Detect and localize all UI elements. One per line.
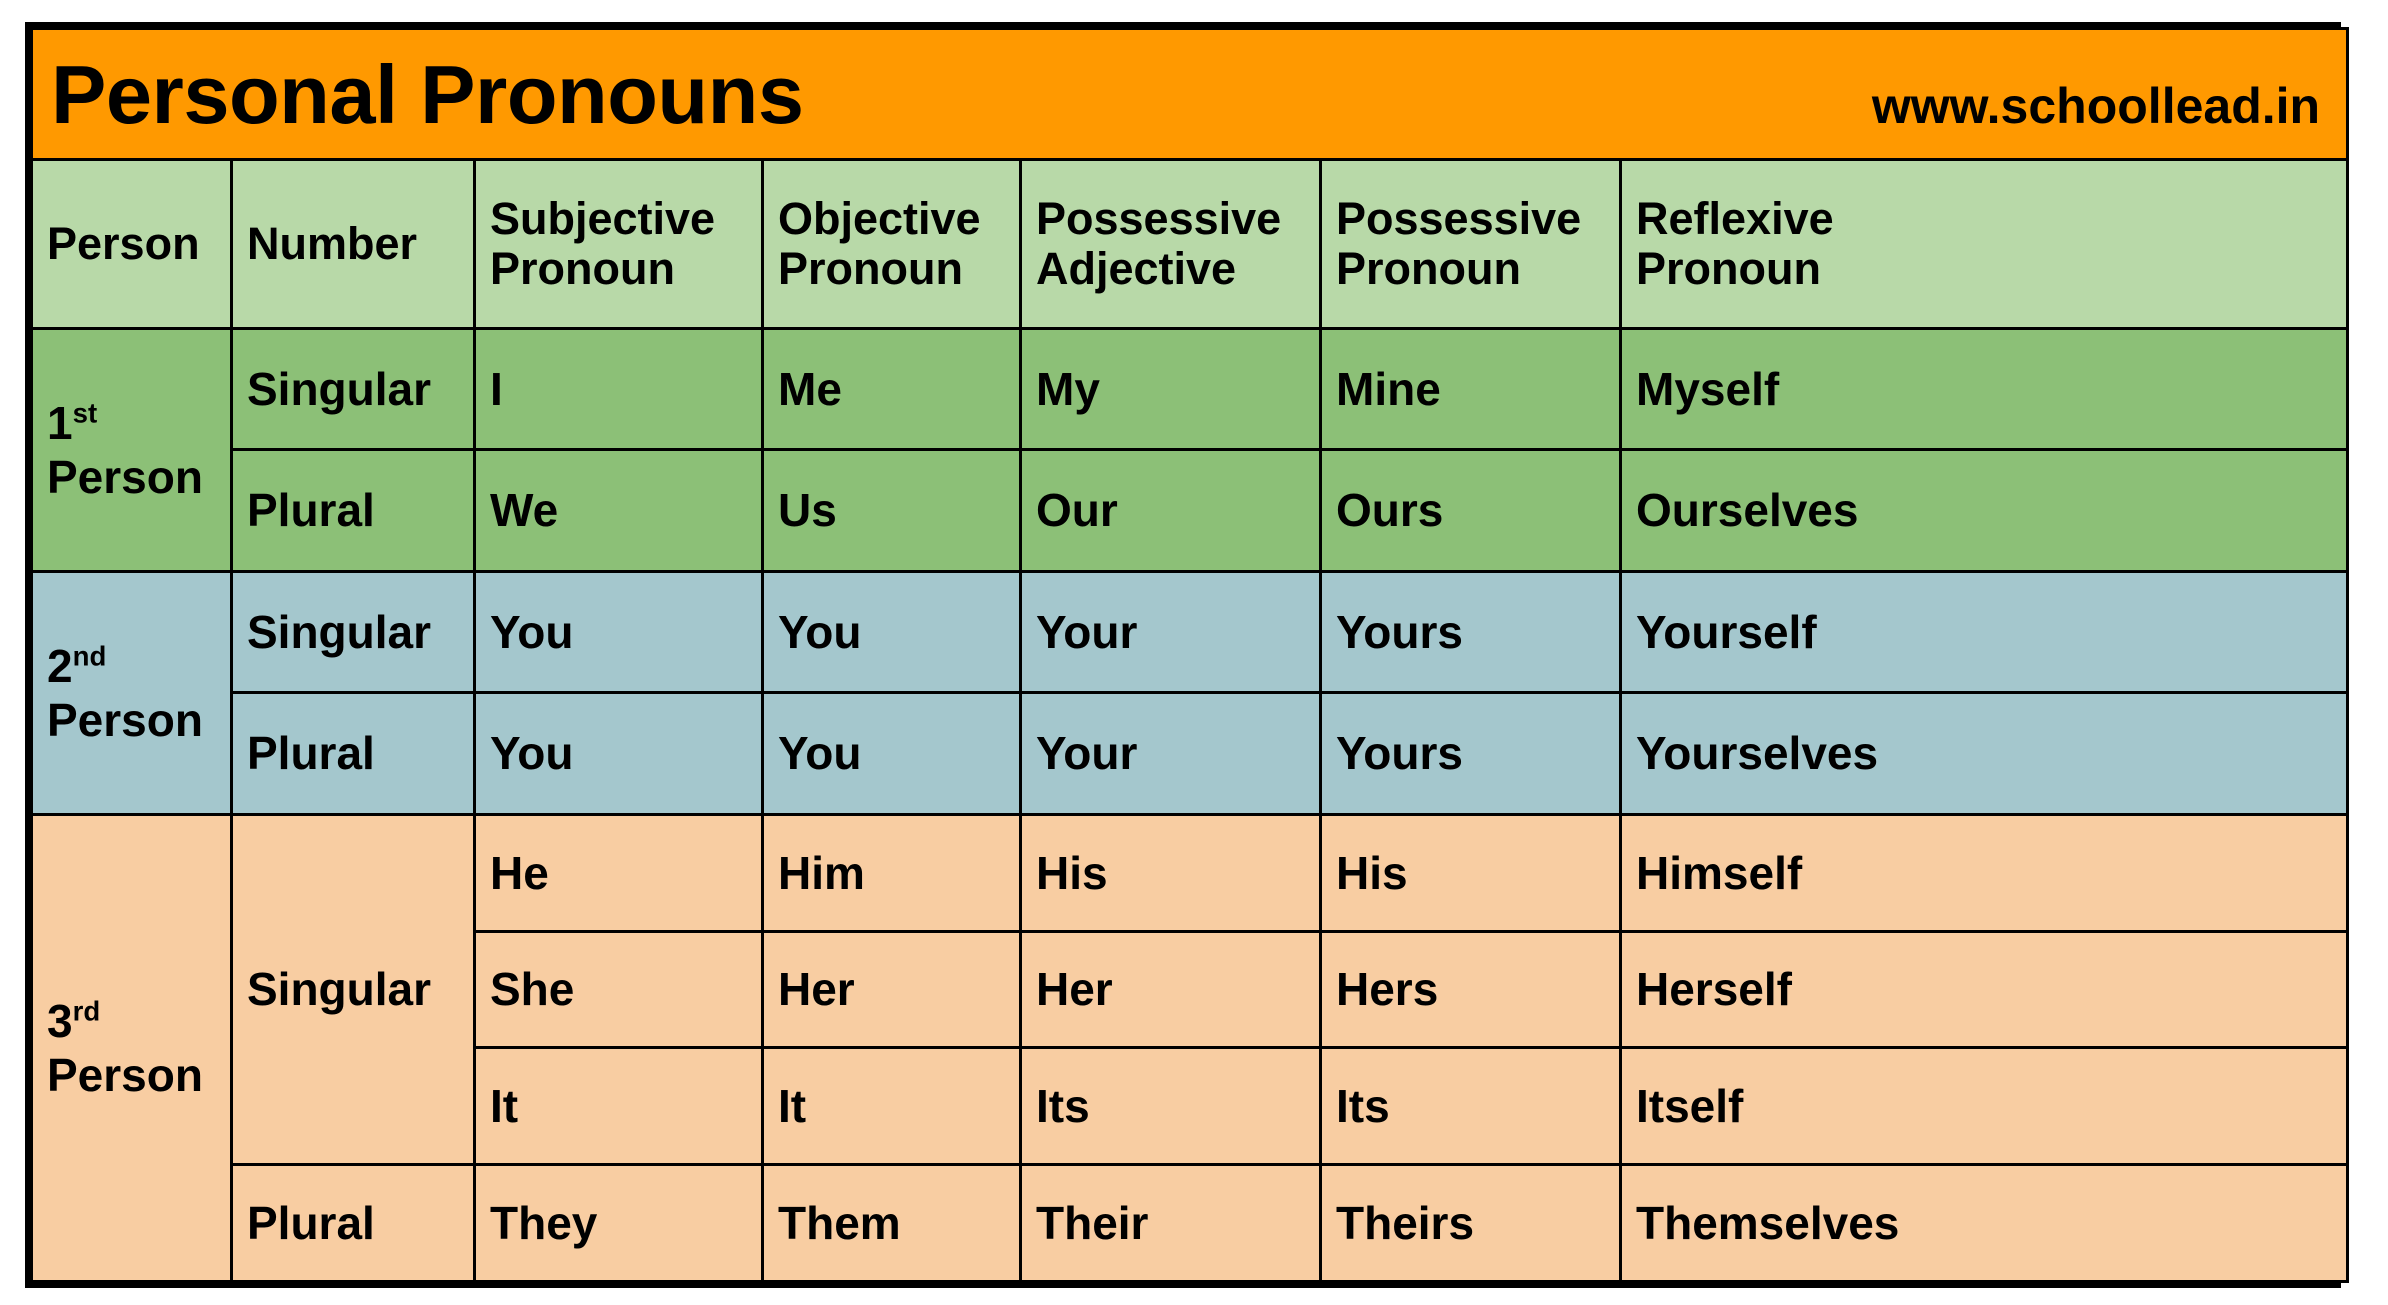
cell-possessive-pronoun: Theirs xyxy=(1321,1165,1621,1282)
subjective-pronoun-value: They xyxy=(490,1198,747,1249)
column-header-subjective-line2: Pronoun xyxy=(490,244,747,294)
cell-reflexive-pronoun: Themselves xyxy=(1621,1165,2348,1282)
column-header-reflexive-line2: Pronoun xyxy=(1636,244,2332,294)
number-label: Plural xyxy=(247,485,459,536)
cell-possessive-pronoun: Hers xyxy=(1321,931,1621,1048)
objective-pronoun-value: It xyxy=(778,1081,1005,1132)
reflexive-pronoun-value: Itself xyxy=(1636,1081,2332,1132)
person-cell-1: 1stPerson xyxy=(32,329,232,572)
subjective-pronoun-value: You xyxy=(490,728,747,779)
possessive-pronoun-value: Hers xyxy=(1336,964,1605,1015)
table-row: PluralWeUsOurOursOurselves xyxy=(32,450,2348,571)
cell-possessive-pronoun: Ours xyxy=(1321,450,1621,571)
cell-possessive-adjective: Your xyxy=(1021,693,1321,814)
cell-subjective-pronoun: He xyxy=(475,814,763,931)
number-label: Plural xyxy=(247,1198,459,1249)
cell-objective-pronoun: You xyxy=(763,571,1021,692)
cell-reflexive-pronoun: Itself xyxy=(1621,1048,2348,1165)
table-row: 1stPersonSingularIMeMyMineMyself xyxy=(32,329,2348,450)
cell-possessive-pronoun: Mine xyxy=(1321,329,1621,450)
subjective-pronoun-value: I xyxy=(490,364,747,415)
table-row: PluralTheyThemTheirTheirsThemselves xyxy=(32,1165,2348,1282)
column-header-objective-line2: Pronoun xyxy=(778,244,1005,294)
subjective-pronoun-value: We xyxy=(490,485,747,536)
subjective-pronoun-value: She xyxy=(490,964,747,1015)
person-label: 2ndPerson xyxy=(47,639,216,748)
reflexive-pronoun-value: Yourself xyxy=(1636,607,2332,658)
reflexive-pronoun-value: Themselves xyxy=(1636,1198,2332,1249)
column-header-person-label: Person xyxy=(47,219,216,269)
subjective-pronoun-value: He xyxy=(490,848,747,899)
person-cell-2: 2ndPerson xyxy=(32,571,232,814)
cell-reflexive-pronoun: Himself xyxy=(1621,814,2348,931)
possessive-adjective-value: His xyxy=(1036,848,1305,899)
person-label: 1stPerson xyxy=(47,396,216,505)
number-cell: Singular xyxy=(232,571,475,692)
personal-pronouns-table: Personal Pronouns www.schoollead.in Pers… xyxy=(30,27,2349,1283)
number-cell: Plural xyxy=(232,693,475,814)
cell-possessive-adjective: Your xyxy=(1021,571,1321,692)
objective-pronoun-value: Me xyxy=(778,364,1005,415)
column-header-number-label: Number xyxy=(247,219,459,269)
cell-possessive-pronoun: Its xyxy=(1321,1048,1621,1165)
cell-objective-pronoun: Us xyxy=(763,450,1021,571)
number-label: Singular xyxy=(247,607,459,658)
cell-objective-pronoun: It xyxy=(763,1048,1021,1165)
cell-subjective-pronoun: You xyxy=(475,693,763,814)
subjective-pronoun-value: You xyxy=(490,607,747,658)
title-row: Personal Pronouns www.schoollead.in xyxy=(32,29,2348,160)
cell-subjective-pronoun: We xyxy=(475,450,763,571)
cell-subjective-pronoun: It xyxy=(475,1048,763,1165)
possessive-adjective-value: Their xyxy=(1036,1198,1305,1249)
objective-pronoun-value: You xyxy=(778,728,1005,779)
table-row: 3rdPersonSingularHeHimHisHisHimself xyxy=(32,814,2348,931)
possessive-adjective-value: Its xyxy=(1036,1081,1305,1132)
number-cell: Plural xyxy=(232,450,475,571)
column-header-objective-line1: Objective xyxy=(778,194,1005,244)
number-cell: Singular xyxy=(232,329,475,450)
possessive-adjective-value: My xyxy=(1036,364,1305,415)
cell-possessive-pronoun: Yours xyxy=(1321,571,1621,692)
column-header-objective-pronoun: Objective Pronoun xyxy=(763,160,1021,329)
cell-subjective-pronoun: You xyxy=(475,571,763,692)
pronouns-table-container: Personal Pronouns www.schoollead.in Pers… xyxy=(25,22,2341,1288)
cell-objective-pronoun: Them xyxy=(763,1165,1021,1282)
cell-subjective-pronoun: I xyxy=(475,329,763,450)
cell-subjective-pronoun: She xyxy=(475,931,763,1048)
cell-reflexive-pronoun: Yourselves xyxy=(1621,693,2348,814)
number-cell: Singular xyxy=(232,814,475,1164)
cell-objective-pronoun: Me xyxy=(763,329,1021,450)
table-row: 2ndPersonSingularYouYouYourYoursYourself xyxy=(32,571,2348,692)
possessive-pronoun-value: Its xyxy=(1336,1081,1605,1132)
possessive-adjective-value: Our xyxy=(1036,485,1305,536)
objective-pronoun-value: You xyxy=(778,607,1005,658)
cell-possessive-adjective: Their xyxy=(1021,1165,1321,1282)
possessive-pronoun-value: Yours xyxy=(1336,728,1605,779)
possessive-pronoun-value: Theirs xyxy=(1336,1198,1605,1249)
person-cell-3: 3rdPerson xyxy=(32,814,232,1281)
possessive-adjective-value: Her xyxy=(1036,964,1305,1015)
table-row: PluralYouYouYourYoursYourselves xyxy=(32,693,2348,814)
title-banner: Personal Pronouns www.schoollead.in xyxy=(32,29,2348,160)
person-label: 3rdPerson xyxy=(47,994,216,1103)
column-header-possessive-adjective: Possessive Adjective xyxy=(1021,160,1321,329)
cell-possessive-adjective: My xyxy=(1021,329,1321,450)
cell-possessive-pronoun: His xyxy=(1321,814,1621,931)
cell-objective-pronoun: You xyxy=(763,693,1021,814)
subjective-pronoun-value: It xyxy=(490,1081,747,1132)
possessive-pronoun-value: Yours xyxy=(1336,607,1605,658)
cell-reflexive-pronoun: Myself xyxy=(1621,329,2348,450)
possessive-adjective-value: Your xyxy=(1036,607,1305,658)
cell-reflexive-pronoun: Yourself xyxy=(1621,571,2348,692)
cell-objective-pronoun: Her xyxy=(763,931,1021,1048)
cell-possessive-pronoun: Yours xyxy=(1321,693,1621,814)
cell-objective-pronoun: Him xyxy=(763,814,1021,931)
column-header-reflexive-pronoun: Reflexive Pronoun xyxy=(1621,160,2348,329)
page-title: Personal Pronouns xyxy=(51,53,803,136)
reflexive-pronoun-value: Yourselves xyxy=(1636,728,2332,779)
reflexive-pronoun-value: Herself xyxy=(1636,964,2332,1015)
cell-possessive-adjective: Its xyxy=(1021,1048,1321,1165)
reflexive-pronoun-value: Ourselves xyxy=(1636,485,2332,536)
number-cell: Plural xyxy=(232,1165,475,1282)
cell-possessive-adjective: Her xyxy=(1021,931,1321,1048)
page-canvas: Personal Pronouns www.schoollead.in Pers… xyxy=(0,0,2388,1305)
possessive-pronoun-value: Ours xyxy=(1336,485,1605,536)
column-header-person: Person xyxy=(32,160,232,329)
number-label: Singular xyxy=(247,364,459,415)
objective-pronoun-value: Them xyxy=(778,1198,1005,1249)
number-label: Plural xyxy=(247,728,459,779)
cell-possessive-adjective: His xyxy=(1021,814,1321,931)
column-header-row: Person Number Subjective Pronoun Objecti… xyxy=(32,160,2348,329)
column-header-possessive-pronoun-line1: Possessive xyxy=(1336,194,1605,244)
column-header-number: Number xyxy=(232,160,475,329)
column-header-possessive-pronoun-line2: Pronoun xyxy=(1336,244,1605,294)
column-header-subjective-line1: Subjective xyxy=(490,194,747,244)
possessive-adjective-value: Your xyxy=(1036,728,1305,779)
objective-pronoun-value: Him xyxy=(778,848,1005,899)
cell-subjective-pronoun: They xyxy=(475,1165,763,1282)
column-header-possessive-pronoun: Possessive Pronoun xyxy=(1321,160,1621,329)
column-header-possessive-adjective-line2: Adjective xyxy=(1036,244,1305,294)
possessive-pronoun-value: Mine xyxy=(1336,364,1605,415)
number-label: Singular xyxy=(247,964,459,1015)
reflexive-pronoun-value: Myself xyxy=(1636,364,2332,415)
website-credit: www.schoollead.in xyxy=(1872,81,2328,131)
objective-pronoun-value: Her xyxy=(778,964,1005,1015)
column-header-possessive-adjective-line1: Possessive xyxy=(1036,194,1305,244)
objective-pronoun-value: Us xyxy=(778,485,1005,536)
cell-reflexive-pronoun: Ourselves xyxy=(1621,450,2348,571)
reflexive-pronoun-value: Himself xyxy=(1636,848,2332,899)
cell-reflexive-pronoun: Herself xyxy=(1621,931,2348,1048)
cell-possessive-adjective: Our xyxy=(1021,450,1321,571)
possessive-pronoun-value: His xyxy=(1336,848,1605,899)
column-header-reflexive-line1: Reflexive xyxy=(1636,194,2332,244)
column-header-subjective-pronoun: Subjective Pronoun xyxy=(475,160,763,329)
